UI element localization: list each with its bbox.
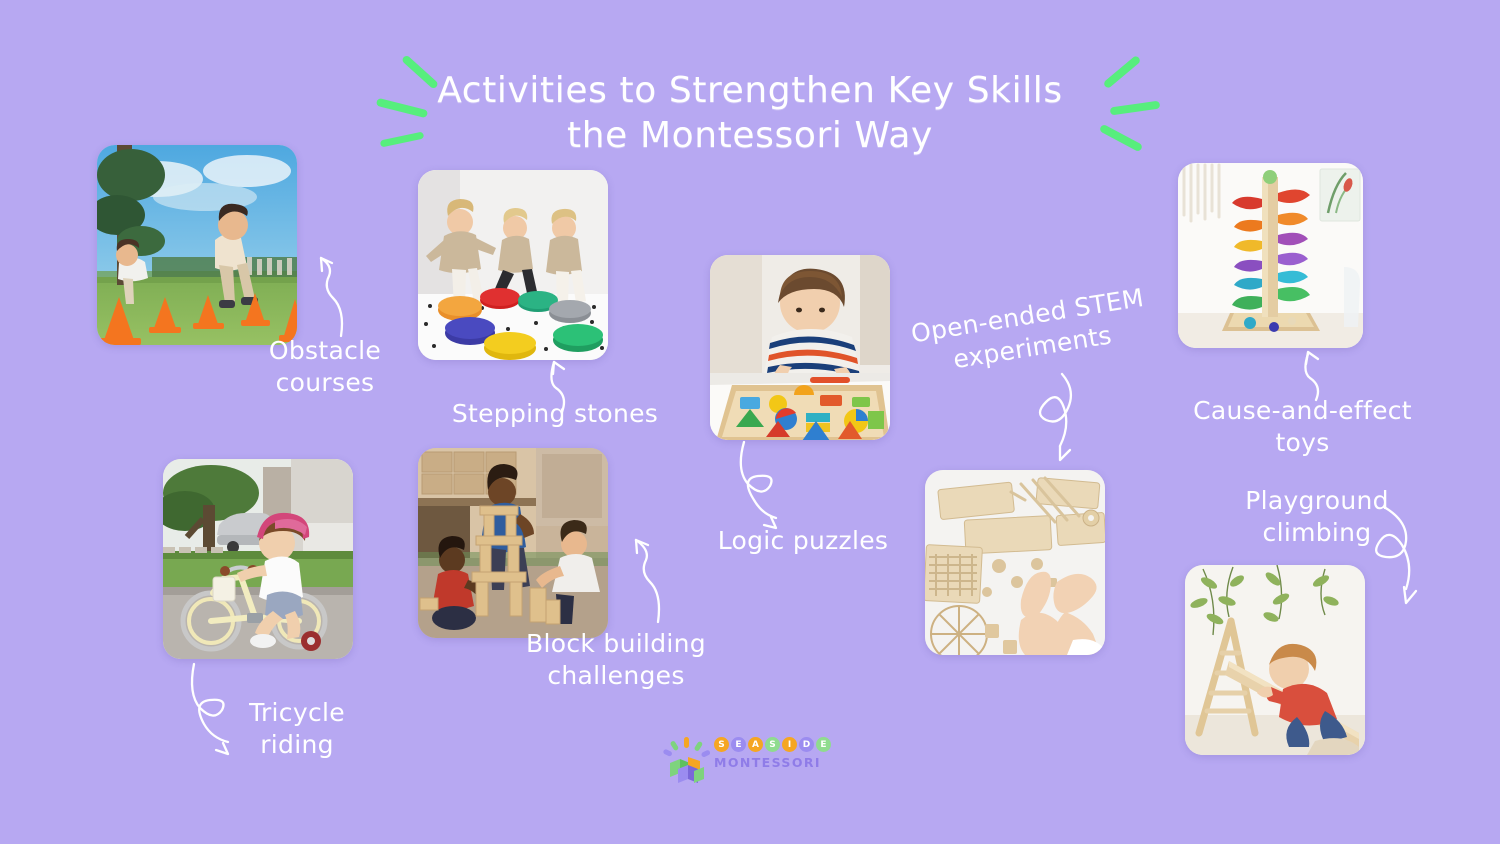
logo-bead-e2: E xyxy=(816,737,831,752)
label-stem-experiments: Open-ended STEM experiments xyxy=(902,281,1159,383)
label-playground-climbing: Playground climbing xyxy=(1222,485,1412,549)
photo-stem-experiments xyxy=(925,470,1105,655)
arrow-to-stem-experiments xyxy=(1028,372,1092,468)
photo-obstacle-courses xyxy=(97,145,297,345)
photo-card-cause-and-effect-toys[interactable] xyxy=(1178,163,1363,348)
logo-bead-a: A xyxy=(748,737,763,752)
logo-bead-d: D xyxy=(799,737,814,752)
photo-card-obstacle-courses[interactable] xyxy=(97,145,297,345)
photo-card-logic-puzzles[interactable] xyxy=(710,255,890,440)
photo-tricycle-riding xyxy=(163,459,353,659)
photo-card-playground-climbing[interactable] xyxy=(1185,565,1365,755)
infographic-canvas: Activities to Strengthen Key Skills the … xyxy=(0,0,1500,844)
brand-logo[interactable]: S E A S I D E MONTESSORI xyxy=(662,733,842,789)
photo-card-tricycle-riding[interactable] xyxy=(163,459,353,659)
logo-bead-s1: S xyxy=(714,737,729,752)
label-block-building: Block building challenges xyxy=(505,628,727,692)
arrow-to-logic-puzzles xyxy=(728,440,808,532)
label-cause-and-effect-toys: Cause-and-effect toys xyxy=(1180,395,1425,459)
label-logic-puzzles: Logic puzzles xyxy=(710,525,896,557)
photo-card-block-building[interactable] xyxy=(418,448,608,638)
label-tricycle-riding: Tricycle riding xyxy=(222,697,372,761)
seaside-montessori-burst-icon xyxy=(662,735,712,785)
logo-wordmark: S E A S I D E MONTESSORI xyxy=(714,737,831,770)
logo-bead-s2: S xyxy=(765,737,780,752)
photo-card-stem-experiments[interactable] xyxy=(925,470,1105,655)
arrow-to-obstacle-courses xyxy=(285,250,365,340)
photo-cause-and-effect-toys xyxy=(1178,163,1363,348)
logo-letter-beads: S E A S I D E xyxy=(714,737,831,752)
arrow-to-block-building xyxy=(600,530,676,626)
photo-stepping-stones xyxy=(418,170,608,360)
photo-block-building xyxy=(418,448,608,638)
logo-bead-i: I xyxy=(782,737,797,752)
logo-subtitle: MONTESSORI xyxy=(714,755,831,770)
label-stepping-stones: Stepping stones xyxy=(440,398,670,430)
photo-logic-puzzles xyxy=(710,255,890,440)
logo-bead-e1: E xyxy=(731,737,746,752)
photo-playground-climbing xyxy=(1185,565,1365,755)
photo-card-stepping-stones[interactable] xyxy=(418,170,608,360)
label-obstacle-courses: Obstacle courses xyxy=(243,335,407,399)
page-title-line-1: Activities to Strengthen Key Skills xyxy=(0,68,1500,113)
